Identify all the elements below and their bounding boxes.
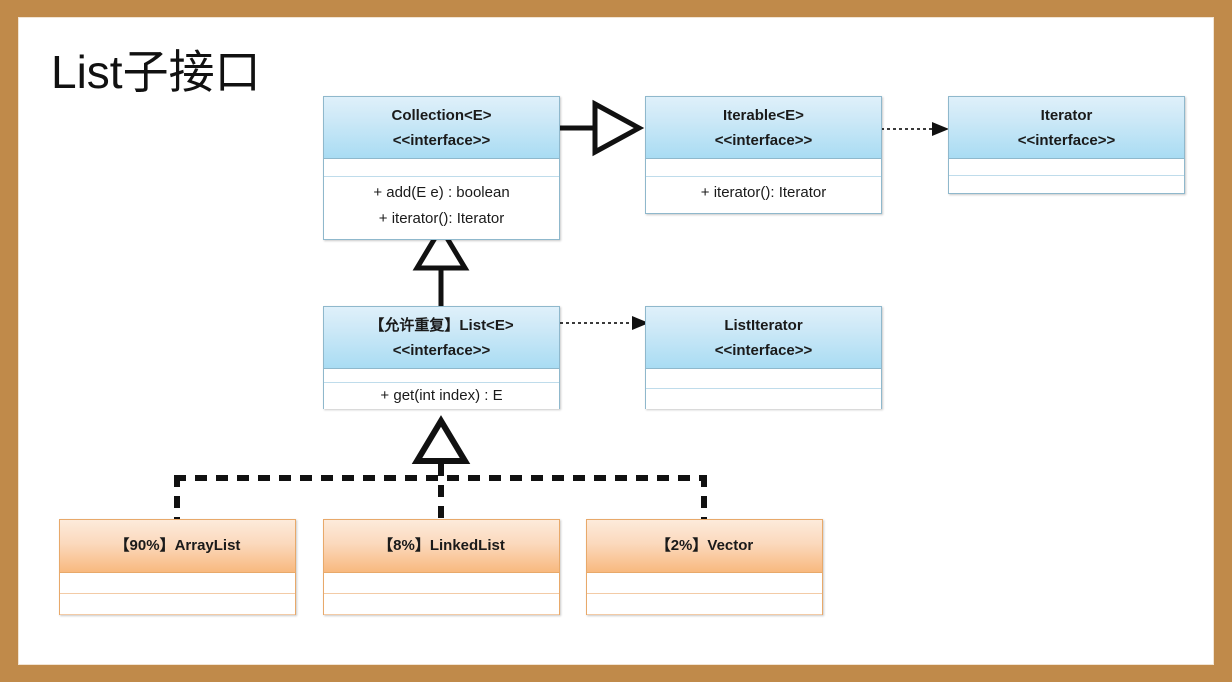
uml-node-name: 【90%】ArrayList	[64, 533, 291, 558]
uml-attributes-section	[324, 369, 559, 383]
uml-attributes-section	[587, 573, 822, 594]
uml-node-stereotype: <<interface>>	[328, 128, 555, 153]
slide-frame: List子接口	[0, 0, 1232, 682]
uml-node-header: Iterator <<interface>>	[949, 97, 1184, 159]
uml-attributes-section	[646, 159, 881, 177]
uml-method-row: + get(int index) : E	[324, 383, 559, 409]
uml-methods-section: + add(E e) : boolean + iterator(): Itera…	[324, 177, 559, 239]
uml-node-header: 【允许重复】List<E> <<interface>>	[324, 307, 559, 369]
uml-methods-section	[949, 176, 1184, 193]
uml-methods-section	[60, 594, 295, 615]
uml-node-name: Collection<E>	[328, 103, 555, 128]
uml-node-list[interactable]: 【允许重复】List<E> <<interface>> + get(int in…	[323, 306, 560, 409]
uml-node-header: ListIterator <<interface>>	[646, 307, 881, 369]
uml-attributes-section	[646, 369, 881, 389]
uml-attributes-section	[324, 573, 559, 594]
uml-node-name: ListIterator	[650, 313, 877, 338]
uml-node-stereotype: <<interface>>	[953, 128, 1180, 153]
uml-methods-section: + get(int index) : E	[324, 383, 559, 409]
uml-node-listiterator[interactable]: ListIterator <<interface>>	[645, 306, 882, 409]
edge-list-depends-listiterator	[560, 316, 649, 330]
page-title: List子接口	[51, 44, 261, 100]
edge-collection-extends-iterable	[560, 104, 639, 152]
uml-node-name: 【2%】Vector	[591, 533, 818, 558]
uml-node-arraylist[interactable]: 【90%】ArrayList	[59, 519, 296, 615]
uml-methods-section	[646, 389, 881, 409]
uml-method-row: + iterator(): Iterator	[646, 180, 881, 206]
uml-node-name: 【8%】LinkedList	[328, 533, 555, 558]
uml-method-row: + iterator(): Iterator	[324, 206, 559, 232]
uml-node-iterator[interactable]: Iterator <<interface>>	[948, 96, 1185, 194]
uml-node-stereotype: <<interface>>	[650, 128, 877, 153]
slide-canvas: List子接口	[18, 17, 1214, 665]
uml-node-linkedlist[interactable]: 【8%】LinkedList	[323, 519, 560, 615]
uml-node-stereotype: <<interface>>	[328, 338, 555, 363]
uml-node-header: Collection<E> <<interface>>	[324, 97, 559, 159]
uml-attributes-section	[949, 159, 1184, 176]
uml-node-name: Iterable<E>	[650, 103, 877, 128]
uml-method-row: + add(E e) : boolean	[324, 180, 559, 206]
uml-methods-section	[587, 594, 822, 615]
uml-node-header: 【2%】Vector	[587, 520, 822, 573]
edge-implementations-realize-list	[174, 421, 707, 519]
uml-node-vector[interactable]: 【2%】Vector	[586, 519, 823, 615]
uml-node-stereotype: <<interface>>	[650, 338, 877, 363]
uml-node-name: Iterator	[953, 103, 1180, 128]
uml-methods-section: + iterator(): Iterator	[646, 177, 881, 213]
uml-node-header: 【8%】LinkedList	[324, 520, 559, 573]
uml-node-header: Iterable<E> <<interface>>	[646, 97, 881, 159]
uml-node-name: 【允许重复】List<E>	[328, 313, 555, 338]
uml-attributes-section	[324, 159, 559, 177]
uml-node-iterable[interactable]: Iterable<E> <<interface>> + iterator(): …	[645, 96, 882, 214]
uml-node-collection[interactable]: Collection<E> <<interface>> + add(E e) :…	[323, 96, 560, 240]
uml-node-header: 【90%】ArrayList	[60, 520, 295, 573]
uml-methods-section	[324, 594, 559, 615]
edge-iterable-depends-iterator	[881, 122, 949, 136]
uml-attributes-section	[60, 573, 295, 594]
